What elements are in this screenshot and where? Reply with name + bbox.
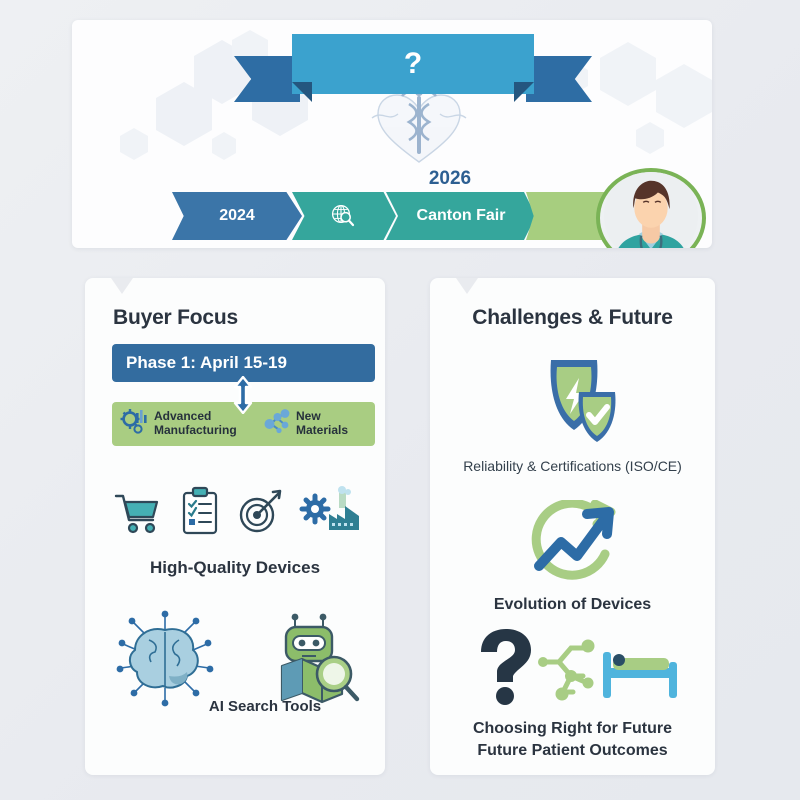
- choosing-right-future-label: Choosing Right for Future Future Patient…: [430, 718, 715, 761]
- clipboard-checklist-icon: [179, 486, 221, 541]
- shopping-cart-icon: [113, 488, 163, 541]
- high-quality-devices-label: High-Quality Devices: [85, 558, 385, 578]
- target-arrow-icon: [237, 488, 283, 541]
- timeline-segment-globe[interactable]: [292, 192, 396, 240]
- card-notch: [111, 278, 133, 294]
- reliability-certifications-label: Reliability & Certifications (ISO/CE): [430, 458, 715, 474]
- ribbon-tail-right: [526, 56, 592, 102]
- evolution-of-devices-label: Evolution of Devices: [430, 596, 715, 614]
- challenges-future-card: Challenges & Future Reliability & Certif…: [430, 278, 715, 775]
- timeline: 2024 Canton Fair: [172, 192, 612, 240]
- double-arrow-icon: [230, 376, 256, 419]
- header-card: ? 2026 2024: [72, 20, 712, 248]
- page-title-buyer-focus: Buyer Focus: [113, 306, 238, 330]
- infographic-page: ? 2026 2024: [0, 0, 800, 800]
- buyer-focus-card: Buyer Focus Phase 1: April 15-19: [85, 278, 385, 775]
- card-notch: [456, 278, 478, 294]
- timeline-segment-canton-fair-label: Canton Fair: [417, 207, 506, 225]
- timeline-segment-2024[interactable]: 2024: [172, 192, 302, 240]
- growth-arrow-cycle-icon: [430, 500, 715, 588]
- timeline-floating-year: 2026: [402, 168, 498, 190]
- ribbon-question-mark: ?: [404, 49, 422, 79]
- ribbon-tail-left: [234, 56, 300, 102]
- doctor-avatar: [596, 168, 706, 248]
- shield-check-bolt-icon: [430, 354, 715, 450]
- page-title-challenges-future: Challenges & Future: [430, 306, 715, 330]
- molecule-icon: [262, 407, 292, 441]
- gear-factory-icon: [120, 407, 150, 441]
- timeline-segment-canton-fair[interactable]: Canton Fair: [386, 192, 536, 240]
- globe-search-icon: [330, 203, 356, 229]
- phase-bar-label: Phase 1: April 15-19: [126, 353, 287, 373]
- ai-search-tools-label: AI Search Tools: [145, 698, 385, 715]
- timeline-segment-2024-label: 2024: [219, 207, 255, 225]
- tag-new-materials-label: New Materials: [296, 410, 348, 438]
- ribbon-band: ?: [292, 34, 534, 94]
- title-ribbon: ?: [292, 34, 534, 106]
- gear-factory-plant-icon: [299, 486, 361, 541]
- tag-advanced-manufacturing-label: Advanced Manufacturing: [154, 410, 237, 438]
- high-quality-devices-icon-row: [113, 486, 361, 541]
- question-decision-patient-bed-icon: [430, 626, 715, 716]
- tag-new-materials[interactable]: New Materials: [262, 407, 348, 441]
